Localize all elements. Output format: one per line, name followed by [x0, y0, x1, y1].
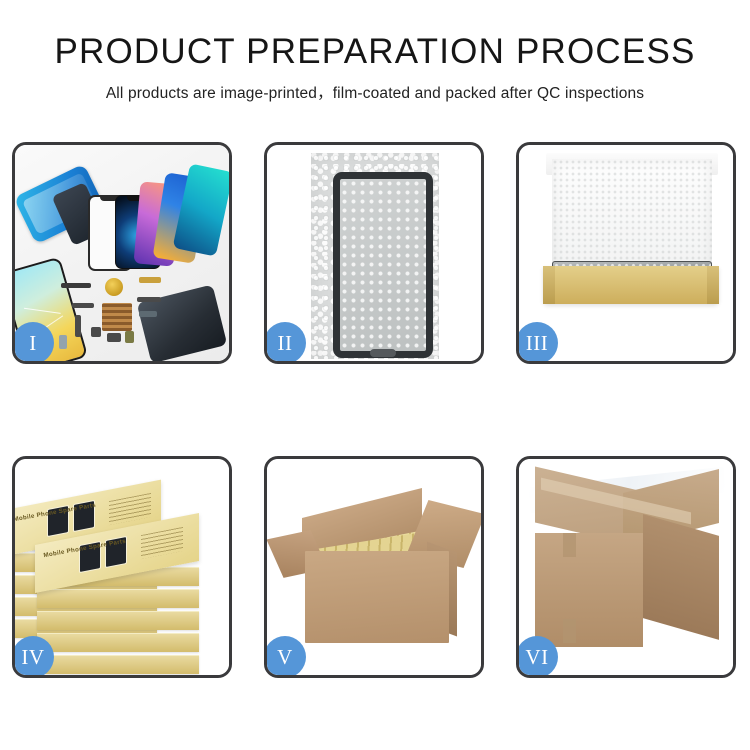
carton-front-icon [535, 533, 643, 647]
step-numeral-4: IV [21, 645, 44, 670]
box-layer [37, 655, 199, 674]
part-icon-a [61, 283, 91, 288]
step-badge-5: V [267, 636, 306, 675]
step-numeral-3: III [526, 331, 548, 356]
part-icon-f [91, 327, 101, 337]
box-layer [37, 589, 199, 608]
tape-patch-lower-icon [563, 619, 576, 643]
home-button-icon [370, 349, 396, 357]
box-layer [37, 633, 199, 652]
header: PRODUCT PREPARATION PROCESS All products… [0, 0, 750, 103]
step-numeral-6: VI [525, 645, 548, 670]
step-image-1: I [15, 145, 229, 361]
part-icon-h [125, 331, 134, 343]
step-image-6: VI [519, 459, 733, 675]
step-panel-6: VI [516, 456, 736, 678]
part-icon-b [139, 277, 161, 283]
part-icon-d [72, 303, 94, 308]
kraft-box-icon [543, 266, 719, 304]
process-steps-grid: I II [12, 142, 738, 678]
part-icon-i [139, 311, 157, 317]
step-numeral-5: V [277, 645, 293, 670]
step-image-4: Mobile Phone Spare Parts Mobile Phone Sp… [15, 459, 229, 675]
page-title: PRODUCT PREPARATION PROCESS [0, 34, 750, 71]
step-badge-6: VI [519, 636, 558, 675]
step-numeral-1: I [29, 331, 37, 356]
step-panel-5: V [264, 456, 484, 678]
box-stack-icon: Mobile Phone Spare Parts Mobile Phone Sp… [15, 473, 229, 669]
step-panel-4: Mobile Phone Spare Parts Mobile Phone Sp… [12, 456, 232, 678]
infographic-page: PRODUCT PREPARATION PROCESS All products… [0, 0, 750, 750]
step-image-2: II [267, 145, 481, 361]
part-icon-g [107, 333, 121, 342]
step-badge-1: I [15, 322, 54, 361]
part-icon-j [59, 335, 67, 349]
step-badge-3: III [519, 322, 558, 361]
part-icon-e [75, 315, 81, 337]
step-panel-2: II [264, 142, 484, 364]
step-numeral-2: II [278, 331, 293, 356]
speaker-part-icon [105, 278, 123, 296]
tape-patch-upper-icon [563, 533, 576, 557]
carton-body-icon [305, 551, 449, 643]
step-image-5: V [267, 459, 481, 675]
step-badge-2: II [267, 322, 306, 361]
box-layer [37, 611, 199, 630]
part-icon-c [137, 297, 161, 302]
step-image-3: III [519, 145, 733, 361]
step-panel-1: I [12, 142, 232, 364]
phone-screen-icon [333, 172, 433, 358]
step-panel-3: III [516, 142, 736, 364]
step-badge-4: IV [15, 636, 54, 675]
carton-right-side-icon [643, 514, 719, 640]
chip-array-part-icon [102, 303, 132, 331]
page-subtitle: All products are image-printed，film-coat… [0, 81, 750, 103]
